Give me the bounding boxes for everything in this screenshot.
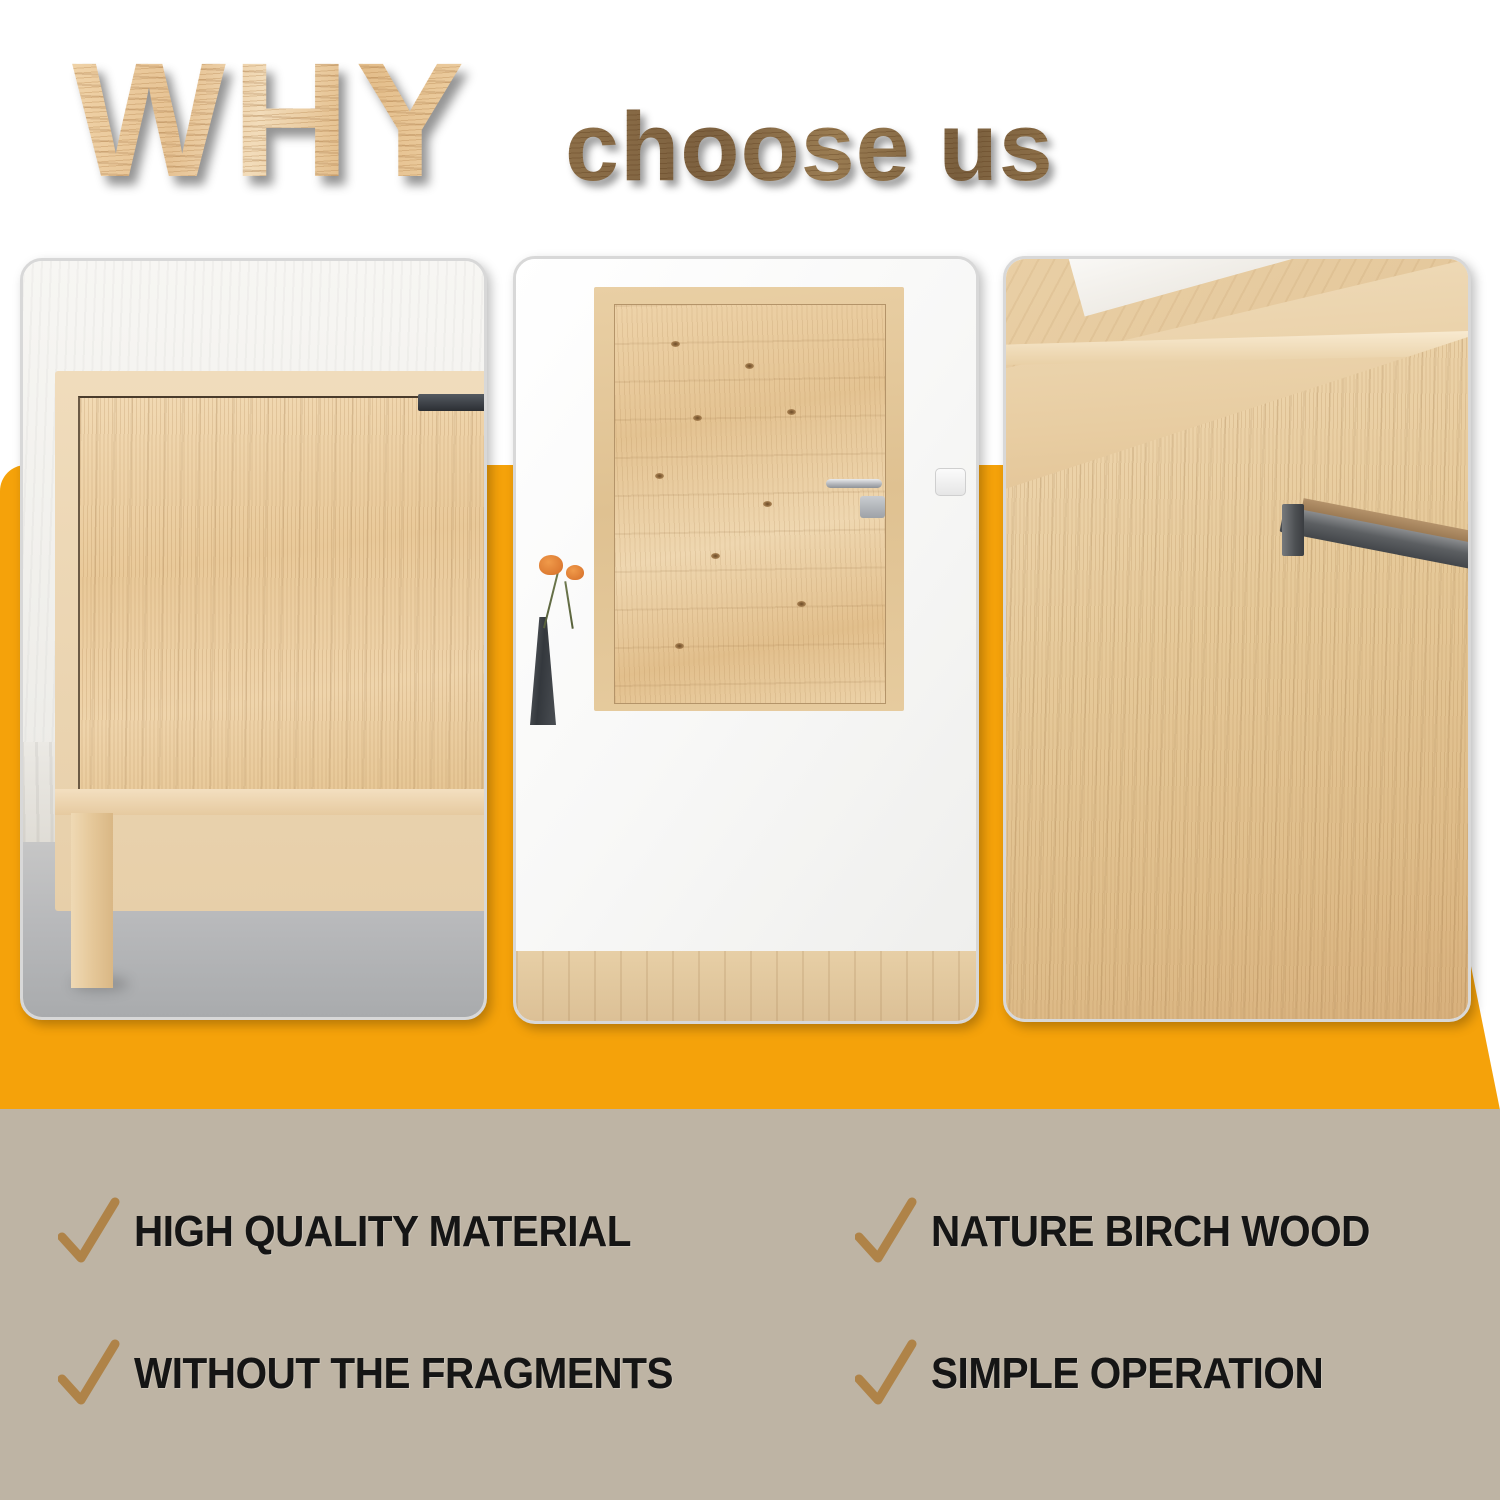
photo-card-drawer-handle: [1003, 256, 1471, 1022]
poppy-flower: [566, 565, 584, 580]
check-icon: [855, 1196, 917, 1268]
door-lever-handle: [826, 479, 882, 488]
cabinet-leg: [71, 813, 113, 988]
drawer-handle-closeup-photo: [1006, 259, 1468, 1019]
feature-item-without-the-fragments: WITHOUT THE FRAGMENTS: [58, 1338, 720, 1410]
wood-knot: [675, 643, 684, 649]
headline-why: WHY: [72, 38, 470, 201]
door-lock-cylinder: [860, 496, 885, 518]
feature-label: NATURE BIRCH WOOD: [931, 1207, 1370, 1257]
feature-item-nature-birch-wood: NATURE BIRCH WOOD: [855, 1196, 1408, 1268]
wood-knot: [745, 363, 754, 369]
feature-item-high-quality-material: HIGH QUALITY MATERIAL: [58, 1196, 674, 1268]
check-icon: [58, 1338, 120, 1410]
features-panel: [0, 1109, 1500, 1500]
photo-card-oak-door: [513, 256, 979, 1024]
cabinet-bottom-rail: [55, 789, 487, 815]
wood-knot: [787, 409, 796, 415]
oak-door-leaf: [614, 304, 886, 704]
wood-knot: [693, 415, 702, 421]
feature-label: SIMPLE OPERATION: [931, 1349, 1323, 1399]
light-switch: [935, 468, 966, 496]
feature-item-simple-operation: SIMPLE OPERATION: [855, 1338, 1357, 1410]
wood-knot: [763, 501, 772, 507]
drawer-bar-handle: [1282, 474, 1471, 589]
wood-knot: [671, 341, 680, 347]
wood-knot: [797, 601, 806, 607]
feature-label: HIGH QUALITY MATERIAL: [134, 1207, 631, 1257]
header-banner: WHY choose us: [0, 0, 1500, 250]
wood-knot: [655, 473, 664, 479]
oak-door-photo: [516, 259, 976, 1021]
cabinet-flap-door: [78, 396, 487, 796]
feature-label: WITHOUT THE FRAGMENTS: [134, 1349, 673, 1399]
cabinet-bar-handle: [418, 394, 487, 411]
check-icon: [855, 1338, 917, 1410]
check-icon: [58, 1196, 120, 1268]
door-frame: [594, 287, 904, 711]
poppy-flower: [539, 555, 563, 575]
handle-mount-leg: [1282, 504, 1304, 556]
photo-card-birch-cabinet: [20, 258, 487, 1020]
wood-floor: [516, 951, 976, 1021]
birch-cabinet-photo: [23, 261, 484, 1017]
headline-choose-us: choose us: [565, 98, 1054, 195]
wood-knot: [711, 553, 720, 559]
